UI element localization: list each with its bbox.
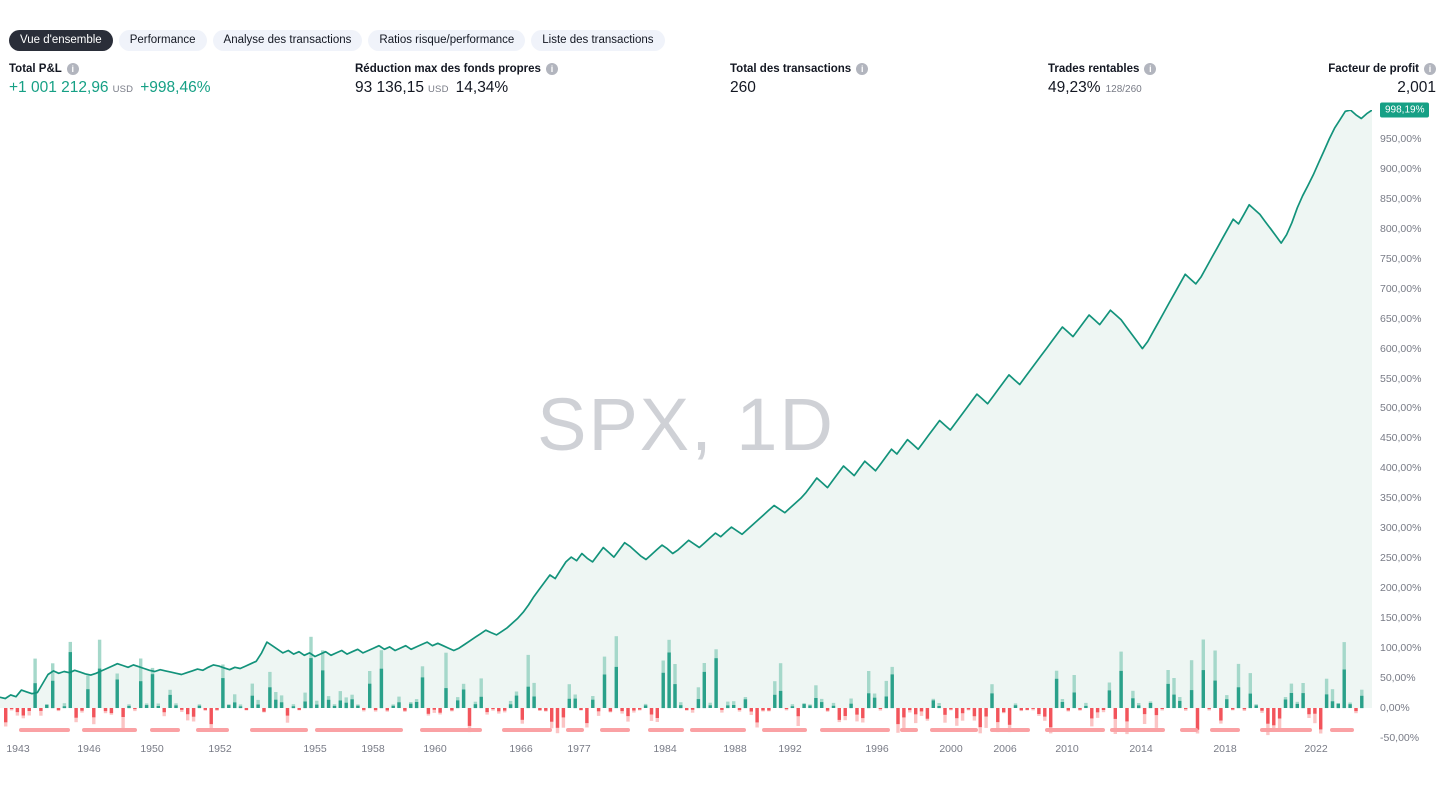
trade-bar-profit	[1061, 702, 1064, 708]
trade-bar-loss	[761, 708, 764, 710]
price-scale-tick: 250,00%	[1380, 552, 1421, 564]
trade-bar-loss	[1031, 708, 1034, 709]
trade-bar-loss	[4, 708, 7, 722]
stat-max-equity-drawdown-label: Réduction max des fonds propres	[355, 63, 541, 75]
trade-bar-profit	[116, 680, 119, 709]
strategy-tester-panel: Vue d'ensemble Performance Analyse des t…	[0, 0, 1445, 793]
price-scale-tick: 150,00%	[1380, 612, 1421, 624]
trade-bar-loss	[738, 708, 741, 710]
price-scale-tick: 50,00%	[1380, 672, 1416, 684]
price-scale-tick: 500,00%	[1380, 402, 1421, 414]
trade-bar-profit	[574, 699, 577, 709]
trade-bar-profit	[63, 706, 66, 708]
time-scale-tick: 2014	[1129, 743, 1152, 755]
time-scale-tick: 1960	[423, 743, 446, 755]
trade-bar-profit	[456, 700, 459, 708]
price-scale-tick: 950,00%	[1380, 133, 1421, 145]
trade-bar-profit	[1360, 696, 1363, 708]
trade-bar-profit	[174, 705, 177, 708]
stat-profitable-trades-fraction: 128/260	[1106, 84, 1142, 95]
trade-bar-profit	[1178, 701, 1181, 708]
trade-bar-profit	[532, 697, 535, 709]
stat-total-pnl-label: Total P&L	[9, 63, 62, 75]
stat-max-equity-drawdown-unit: USD	[428, 84, 449, 95]
trade-bar-profit	[33, 683, 36, 708]
drawdown-period-segment	[1330, 728, 1354, 732]
drawdown-period-segment	[900, 728, 918, 732]
trade-bar-loss	[785, 708, 788, 709]
trade-bar-loss	[902, 708, 905, 717]
drawdown-period-segment	[315, 728, 403, 732]
trade-bar-profit	[1337, 704, 1340, 708]
trade-bar-profit	[679, 705, 682, 708]
trade-bar-loss	[620, 708, 623, 711]
trade-bar-loss	[16, 708, 19, 712]
time-scale-tick: 2006	[993, 743, 1016, 755]
trade-bar-loss	[1020, 708, 1023, 710]
trade-bar-profit	[168, 695, 171, 708]
trade-bar-profit	[615, 667, 618, 708]
trade-bar-loss	[855, 708, 858, 715]
trade-bar-loss	[92, 708, 95, 717]
trade-bar-profit	[139, 681, 142, 708]
trade-bar-profit	[1055, 679, 1058, 708]
strategy-tabs: Vue d'ensemble Performance Analyse des t…	[9, 30, 665, 51]
trade-bar-loss	[163, 708, 166, 712]
drawdown-period-segment	[762, 728, 807, 732]
drawdown-period-segment	[19, 728, 70, 732]
drawdown-period-segment	[502, 728, 552, 732]
trade-bar-loss	[1354, 708, 1357, 711]
tab-performance[interactable]: Performance	[119, 30, 207, 51]
trade-bar-profit	[1290, 693, 1293, 708]
drawdown-period-segment	[1110, 728, 1165, 732]
trade-bar-profit	[350, 699, 353, 708]
trade-bar-profit	[808, 706, 811, 709]
trade-bar-profit	[474, 704, 477, 708]
trade-bar-loss	[844, 708, 847, 716]
trade-bar-profit	[392, 706, 395, 708]
trade-bar-loss	[967, 708, 970, 710]
stat-profitable-trades-value: 49,23%	[1048, 79, 1101, 97]
trade-bar-profit	[1119, 671, 1122, 708]
trade-bar-profit	[1301, 693, 1304, 708]
trade-bar-profit	[227, 705, 230, 708]
trade-bar-loss	[838, 708, 841, 720]
trade-bar-profit	[937, 706, 940, 708]
stat-profitable-trades-value-row: 49,23% 128/260	[1048, 79, 1156, 97]
info-icon[interactable]: i	[546, 63, 558, 75]
trade-bar-profit	[198, 706, 201, 708]
trade-bar-loss	[245, 708, 248, 710]
stat-total-trades-header: Total des transactions i	[730, 63, 868, 75]
trade-bar-loss	[1102, 708, 1105, 710]
equity-plot-area[interactable]: SPX, 1D	[0, 110, 1372, 738]
trade-bar-loss	[1143, 708, 1146, 714]
trade-bar-profit	[849, 704, 852, 708]
trade-bar-loss	[521, 708, 524, 720]
price-scale-tick: 700,00%	[1380, 283, 1421, 295]
trade-bar-profit	[415, 702, 418, 708]
trade-bar-loss	[632, 708, 635, 711]
trade-bar-loss	[996, 708, 999, 722]
trade-bar-loss	[386, 708, 389, 710]
trade-bar-loss	[1114, 708, 1117, 719]
trade-bar-profit	[345, 703, 348, 708]
trade-bar-profit	[779, 691, 782, 708]
trade-bar-loss	[57, 708, 60, 710]
summary-stats: Total P&L i +1 001 212,96 USD +998,46% R…	[0, 63, 1445, 105]
trade-bar-profit	[591, 700, 594, 708]
stat-total-pnl-value: +1 001 212,96	[9, 79, 109, 97]
drawdown-period-segment	[420, 728, 482, 732]
stat-total-trades-value: 260	[730, 79, 756, 97]
trade-bar-profit	[1343, 670, 1346, 709]
trade-bar-profit	[480, 697, 483, 708]
time-scale-axis[interactable]: 1943194619501952195519581960196619771984…	[0, 740, 1372, 760]
stat-total-pnl-header: Total P&L i	[9, 63, 210, 75]
trade-bar-profit	[339, 701, 342, 709]
price-scale-tick: 850,00%	[1380, 193, 1421, 205]
trade-bar-profit	[239, 706, 242, 708]
time-scale-tick: 2018	[1213, 743, 1236, 755]
stat-total-trades-label: Total des transactions	[730, 63, 851, 75]
trade-bar-profit	[233, 702, 236, 708]
stat-total-trades-value-row: 260	[730, 79, 868, 97]
stat-max-equity-drawdown-percent: 14,34%	[456, 79, 509, 97]
trade-bar-loss	[585, 708, 588, 723]
info-icon[interactable]: i	[1424, 63, 1436, 75]
trade-bar-loss	[110, 708, 113, 713]
trade-bar-loss	[973, 708, 976, 716]
trade-bar-profit	[709, 705, 712, 708]
trade-bar-loss	[914, 708, 917, 714]
info-icon[interactable]: i	[856, 63, 868, 75]
price-scale-tick: 300,00%	[1380, 522, 1421, 534]
trade-bar-loss	[39, 708, 42, 711]
trade-bar-loss	[650, 708, 653, 715]
trade-bar-profit	[327, 700, 330, 708]
trade-bar-profit	[145, 705, 148, 708]
trade-bar-profit	[1213, 681, 1216, 708]
trade-bar-loss	[1096, 708, 1099, 712]
trade-bar-loss	[861, 708, 864, 718]
trade-bar-loss	[180, 708, 183, 710]
stat-profit-factor-label: Facteur de profit	[1328, 63, 1419, 75]
trade-bar-loss	[403, 708, 406, 711]
trade-bar-profit	[509, 704, 512, 708]
trade-bar-loss	[204, 708, 207, 710]
trade-bar-profit	[1348, 704, 1351, 708]
price-scale-tick: 550,00%	[1380, 373, 1421, 385]
drawdown-period-segment	[648, 728, 684, 732]
trade-bar-profit	[368, 684, 371, 708]
trade-bar-profit	[1149, 703, 1152, 708]
trade-bar-profit	[820, 702, 823, 708]
trade-bar-loss	[1313, 708, 1316, 714]
drawdown-period-segment	[1180, 728, 1198, 732]
trade-bar-profit	[1166, 684, 1169, 708]
trade-bar-profit	[673, 684, 676, 708]
trade-bar-profit	[86, 689, 89, 708]
price-scale-tick: 450,00%	[1380, 432, 1421, 444]
trade-bar-profit	[1237, 687, 1240, 708]
drawdown-period-segment	[820, 728, 890, 732]
stat-profit-factor-header: Facteur de profit i	[1328, 63, 1436, 75]
trade-bar-profit	[462, 690, 465, 709]
time-scale-tick: 1977	[567, 743, 590, 755]
drawdown-period-segment	[600, 728, 630, 732]
stat-total-pnl: Total P&L i +1 001 212,96 USD +998,46%	[9, 63, 210, 97]
stat-profit-factor-value: 2,001	[1397, 79, 1436, 97]
trade-bar-loss	[438, 708, 441, 713]
info-icon[interactable]: i	[67, 63, 79, 75]
trade-bar-profit	[802, 704, 805, 708]
price-scale-axis[interactable]: 998,19%950,00%900,00%850,00%800,00%750,0…	[1372, 110, 1445, 738]
equity-area-fill	[0, 110, 1372, 708]
trade-bar-loss	[1260, 708, 1263, 711]
trade-bar-loss	[1125, 708, 1128, 721]
trade-bar-profit	[873, 698, 876, 708]
price-scale-tick: 900,00%	[1380, 163, 1421, 175]
trade-bar-loss	[638, 708, 641, 710]
drawdown-period-segment	[196, 728, 229, 732]
trade-bar-loss	[1231, 708, 1234, 710]
trade-bar-loss	[298, 708, 301, 710]
trade-bar-profit	[703, 672, 706, 708]
trade-bar-loss	[503, 708, 506, 711]
trade-bar-loss	[955, 708, 958, 718]
trade-bar-profit	[292, 706, 295, 708]
stat-max-equity-drawdown-header: Réduction max des fonds propres i	[355, 63, 558, 75]
tab-ratios-risque-performance[interactable]: Ratios risque/performance	[368, 30, 525, 51]
trade-bar-loss	[1043, 708, 1046, 717]
trade-bar-profit	[315, 705, 318, 708]
trade-bar-loss	[1026, 708, 1029, 710]
trade-bar-profit	[791, 706, 794, 708]
trade-bar-loss	[1184, 708, 1187, 709]
trade-bar-profit	[1190, 690, 1193, 708]
stat-max-equity-drawdown-value: 93 136,15	[355, 79, 424, 97]
equity-curve-svg	[0, 110, 1372, 738]
trade-bar-profit	[280, 702, 283, 708]
trade-bar-profit	[568, 699, 571, 708]
trade-bar-loss	[215, 708, 218, 710]
time-scale-tick: 1952	[208, 743, 231, 755]
drawdown-period-segment	[1210, 728, 1240, 732]
trade-bar-profit	[1084, 706, 1087, 708]
trade-bar-profit	[151, 674, 154, 708]
time-scale-tick: 2010	[1055, 743, 1078, 755]
trade-bar-loss	[750, 708, 753, 712]
trade-bar-profit	[268, 687, 271, 708]
trade-bar-profit	[644, 705, 647, 708]
trade-bar-profit	[662, 673, 665, 708]
trade-bar-loss	[497, 708, 500, 711]
stat-total-pnl-value-row: +1 001 212,96 USD +998,46%	[9, 79, 210, 97]
time-scale-tick: 1950	[140, 743, 163, 755]
trade-bar-profit	[773, 695, 776, 708]
trade-bar-profit	[444, 688, 447, 708]
trade-bar-loss	[826, 708, 829, 711]
price-scale-tick: 350,00%	[1380, 492, 1421, 504]
trade-bar-loss	[133, 708, 136, 709]
trade-bar-profit	[69, 652, 72, 708]
trade-bar-loss	[626, 708, 629, 716]
trade-bar-profit	[333, 706, 336, 708]
trade-bar-loss	[926, 708, 929, 719]
trade-bar-loss	[121, 708, 124, 717]
tab-vue-densemble[interactable]: Vue d'ensemble	[9, 30, 113, 51]
trade-bar-profit	[744, 699, 747, 708]
trade-bar-loss	[104, 708, 107, 711]
trade-bar-loss	[538, 708, 541, 710]
info-icon[interactable]: i	[1144, 63, 1156, 75]
trade-bar-profit	[356, 706, 359, 708]
drawdown-period-segment	[1260, 728, 1312, 732]
trade-bar-profit	[1073, 693, 1076, 709]
trade-bar-loss	[656, 708, 659, 718]
trade-bar-loss	[427, 708, 430, 714]
stat-profit-factor-value-row: 2,001	[1328, 79, 1436, 97]
trade-bar-profit	[221, 678, 224, 708]
trade-bar-profit	[1225, 699, 1228, 708]
drawdown-period-segment	[150, 728, 180, 732]
trade-bar-profit	[932, 700, 935, 708]
trade-bar-loss	[1090, 708, 1093, 718]
price-scale-tick: 650,00%	[1380, 313, 1421, 325]
trade-bar-loss	[286, 708, 289, 716]
trade-bar-profit	[1108, 690, 1111, 708]
trade-bar-loss	[210, 708, 213, 724]
trade-bar-profit	[515, 696, 518, 708]
stat-profitable-trades-label: Trades rentables	[1048, 63, 1139, 75]
trade-bar-loss	[22, 708, 25, 716]
trade-bar-loss	[10, 708, 13, 709]
stat-total-trades: Total des transactions i 260	[730, 63, 868, 97]
trade-bar-loss	[579, 708, 582, 710]
trade-bar-profit	[256, 705, 259, 709]
trade-bar-profit	[527, 687, 530, 708]
trade-bar-loss	[879, 708, 882, 709]
trade-bar-profit	[990, 693, 993, 708]
trade-bar-loss	[1266, 708, 1269, 724]
trade-bar-loss	[1208, 708, 1211, 709]
trade-bar-loss	[1155, 708, 1158, 715]
trade-bar-profit	[832, 706, 835, 708]
drawdown-period-segment	[250, 728, 308, 732]
price-scale-tick: 750,00%	[1380, 253, 1421, 265]
time-scale-tick: 1943	[6, 743, 29, 755]
drawdown-period-strip	[0, 723, 1372, 737]
trade-bar-profit	[274, 700, 277, 708]
trade-bar-loss	[74, 708, 77, 718]
trade-bar-profit	[421, 677, 424, 708]
trade-bar-loss	[550, 708, 553, 722]
trade-bar-loss	[1243, 708, 1246, 709]
time-scale-tick: 1955	[303, 743, 326, 755]
trade-bar-loss	[1078, 708, 1081, 710]
stat-profit-factor: Facteur de profit i 2,001	[1328, 63, 1436, 97]
trade-bar-profit	[667, 653, 670, 709]
trade-bar-loss	[544, 708, 547, 711]
trade-bar-loss	[1307, 708, 1310, 714]
trade-bar-profit	[1202, 670, 1205, 708]
time-scale-tick: 1988	[723, 743, 746, 755]
trade-bar-loss	[1278, 708, 1281, 719]
trade-bar-profit	[251, 696, 254, 708]
trade-bar-profit	[885, 697, 888, 709]
trade-bar-loss	[80, 708, 83, 711]
trade-bar-loss	[362, 708, 365, 710]
trade-bar-profit	[127, 706, 130, 708]
price-scale-tick: 600,00%	[1380, 343, 1421, 355]
trade-bar-loss	[949, 708, 952, 709]
trade-bar-profit	[697, 699, 700, 708]
trade-bar-profit	[891, 674, 894, 708]
trade-bar-loss	[961, 708, 964, 713]
tab-analyse-des-transactions[interactable]: Analyse des transactions	[213, 30, 363, 51]
trade-bar-loss	[485, 708, 488, 712]
trade-bar-profit	[1137, 705, 1140, 708]
trade-bar-loss	[374, 708, 377, 710]
trade-bar-profit	[1331, 701, 1334, 708]
trade-bar-loss	[685, 708, 688, 710]
price-scale-tick: -50,00%	[1380, 732, 1419, 744]
drawdown-period-segment	[690, 728, 746, 732]
trade-bar-profit	[1284, 700, 1287, 709]
trade-bar-loss	[1067, 708, 1070, 710]
trade-bar-loss	[797, 708, 800, 716]
drawdown-period-segment	[990, 728, 1030, 732]
trade-bar-loss	[720, 708, 723, 710]
time-scale-tick: 1984	[653, 743, 676, 755]
trade-bar-profit	[814, 698, 817, 708]
price-scale-tick: 400,00%	[1380, 462, 1421, 474]
trade-bar-profit	[1131, 698, 1134, 708]
trade-bar-loss	[192, 708, 195, 717]
trade-bar-profit	[1325, 694, 1328, 708]
trade-bar-profit	[98, 669, 101, 708]
trade-bar-profit	[1249, 694, 1252, 709]
stat-max-equity-drawdown-value-row: 93 136,15 USD 14,34%	[355, 79, 558, 97]
tab-liste-des-transactions[interactable]: Liste des transactions	[531, 30, 664, 51]
trade-bar-loss	[767, 708, 770, 711]
trade-bar-loss	[908, 708, 911, 710]
trade-bar-loss	[609, 708, 612, 712]
drawdown-period-segment	[566, 728, 584, 732]
stat-total-pnl-percent: +998,46%	[140, 79, 210, 97]
trade-bar-profit	[1172, 695, 1175, 709]
trade-bar-loss	[450, 708, 453, 710]
trade-bar-profit	[157, 706, 160, 708]
trade-bar-profit	[409, 704, 412, 708]
time-scale-tick: 1946	[77, 743, 100, 755]
trade-bar-loss	[186, 708, 189, 714]
trade-bar-loss	[920, 708, 923, 711]
stat-max-equity-drawdown: Réduction max des fonds propres i 93 136…	[355, 63, 558, 97]
trade-bar-loss	[943, 708, 946, 715]
stat-total-pnl-unit: USD	[113, 84, 134, 95]
time-scale-tick: 1996	[865, 743, 888, 755]
trade-bar-profit	[51, 681, 54, 708]
trade-bar-profit	[309, 658, 312, 708]
trade-bar-loss	[1002, 708, 1005, 712]
trade-bar-profit	[726, 705, 729, 708]
trade-bar-loss	[262, 708, 265, 712]
trade-bar-profit	[603, 675, 606, 709]
price-scale-tick: 200,00%	[1380, 582, 1421, 594]
